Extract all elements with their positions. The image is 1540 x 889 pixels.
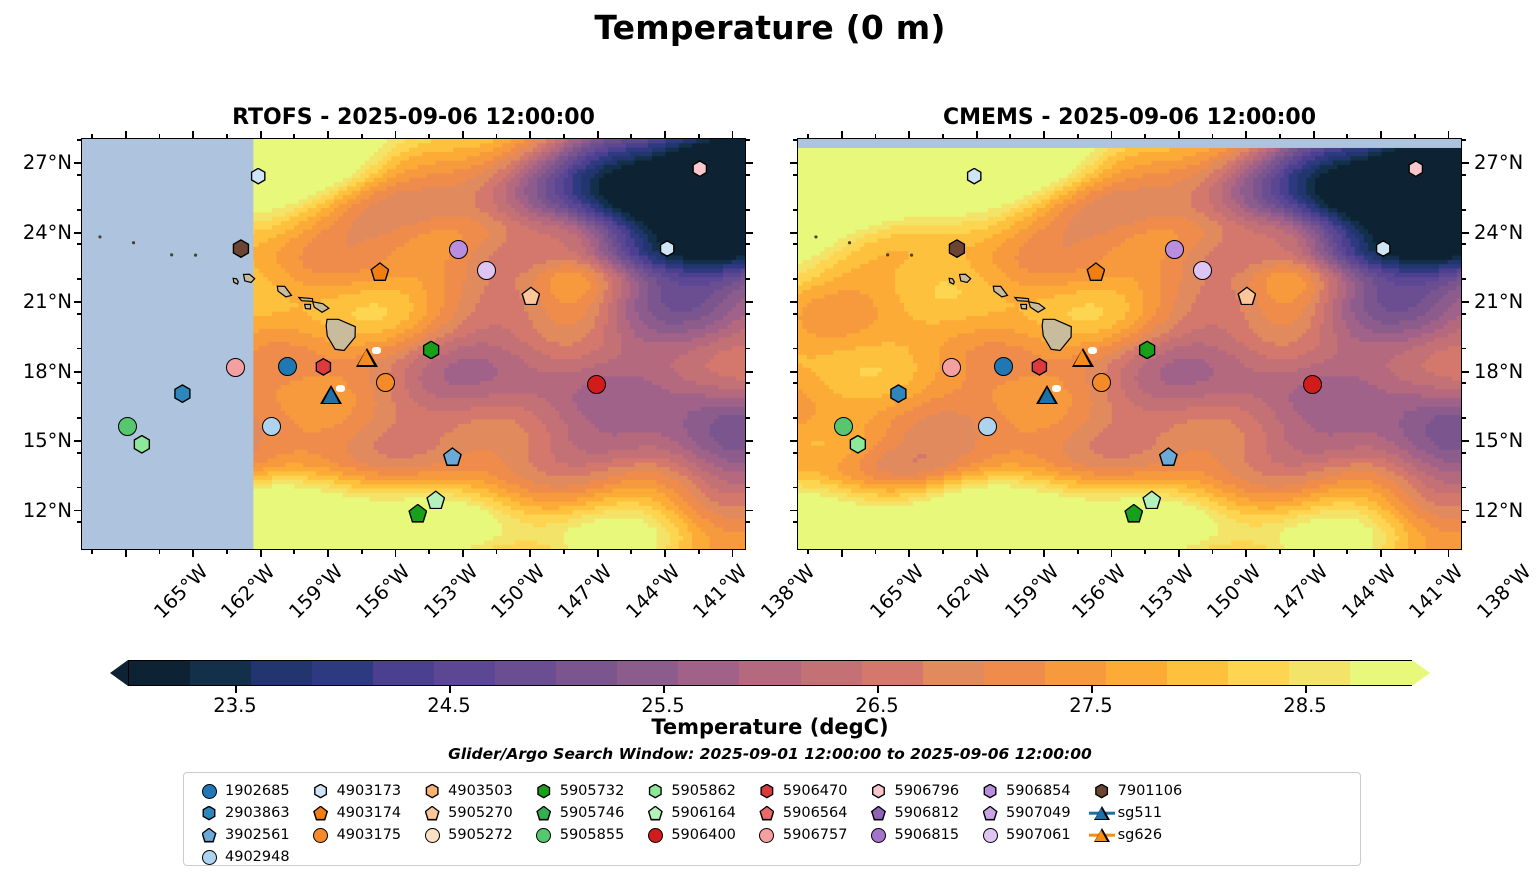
colorbar-segment: [1289, 661, 1352, 685]
y-tick-major: [746, 232, 753, 234]
marker-fill: [660, 242, 674, 256]
legend-entry-5907061[interactable]: 5907061: [977, 825, 1071, 845]
marker-outline: [659, 240, 676, 257]
x-axis-label: 156°W: [352, 560, 415, 623]
y-tick-minor: [77, 452, 81, 454]
marker-outline: [443, 447, 462, 466]
marker-fill: [1074, 350, 1090, 365]
legend-entry-4903173[interactable]: 4903173: [308, 781, 402, 801]
map-marker-5905746[interactable]: [1124, 504, 1143, 523]
legend-marker-5906812: [865, 803, 891, 823]
y-tick-minor: [1462, 209, 1466, 211]
panel-title-cmems: CMEMS - 2025-09-06 12:00:00: [797, 105, 1462, 130]
x-tick-major: [597, 131, 599, 138]
y-tick-minor: [1462, 521, 1466, 523]
y-tick-major: [790, 162, 797, 164]
marker-outline: [848, 435, 867, 454]
colorbar-tick: [663, 686, 665, 693]
marker-fill: [984, 807, 996, 819]
legend-label: 4903174: [337, 805, 402, 821]
x-tick-major: [125, 550, 127, 557]
marker-outline: [1138, 340, 1157, 359]
legend-entry-3902561[interactable]: 3902561: [196, 825, 290, 845]
map-marker-5906796[interactable]: [691, 160, 708, 177]
marker-fill: [967, 169, 981, 183]
marker-fill: [873, 807, 885, 819]
map-marker-5906854[interactable]: [449, 240, 468, 259]
legend-marker-4903174: [308, 803, 334, 823]
legend-entry-1902685[interactable]: 1902685: [196, 781, 290, 801]
x-axis-label: 165°W: [865, 560, 928, 623]
legend-label: 5906812: [894, 805, 959, 821]
x-tick-major: [1178, 131, 1180, 138]
panel-title-rtofs: RTOFS - 2025-09-06 12:00:00: [81, 105, 746, 130]
marker-fill: [523, 288, 539, 304]
marker-circle: [942, 358, 961, 377]
x-tick-minor: [496, 550, 498, 554]
marker-fill: [1039, 388, 1055, 403]
legend-entry-4903175[interactable]: 4903175: [308, 825, 402, 845]
legend-entry-5905746[interactable]: 5905746: [531, 803, 625, 823]
map-marker-5905862[interactable]: [132, 435, 151, 454]
marker-fill: [649, 785, 661, 797]
marker-outline: [408, 504, 427, 523]
map-marker-4903173b[interactable]: [659, 240, 676, 257]
map-marker-5905746[interactable]: [408, 504, 427, 523]
legend-entry-5905862[interactable]: 5905862: [642, 781, 736, 801]
y-tick-major: [1462, 232, 1469, 234]
colorbar-tick: [877, 686, 879, 693]
x-tick-major: [327, 131, 329, 138]
y-tick-major: [790, 301, 797, 303]
colorbar-segment: [129, 661, 192, 685]
map-marker-5905270[interactable]: [1237, 286, 1256, 305]
map-marker-1902685[interactable]: [994, 357, 1013, 376]
y-axis-label: 12°N: [1474, 499, 1523, 522]
map-marker-sg511[interactable]: [320, 383, 342, 405]
y-tick-minor: [793, 174, 797, 176]
x-tick-minor: [361, 134, 363, 138]
y-axis-label: 18°N: [0, 360, 72, 383]
marker-outline: [871, 784, 886, 799]
marker-circle: [278, 357, 297, 376]
x-tick-minor: [942, 550, 944, 554]
y-tick-minor: [77, 521, 81, 523]
map-marker-2903863[interactable]: [889, 384, 908, 403]
colorbar-segment: [617, 661, 680, 685]
x-tick-major: [1448, 550, 1450, 557]
legend-entry-5906815[interactable]: 5906815: [865, 825, 959, 845]
map-marker-sg626[interactable]: [1072, 346, 1094, 368]
colorbar-segment: [1350, 661, 1413, 685]
marker-outline: [1072, 348, 1094, 367]
marker-circle: [1092, 373, 1111, 392]
marker-fill: [538, 785, 550, 797]
x-tick-minor: [159, 134, 161, 138]
colorbar-segment: [251, 661, 314, 685]
map-marker-5906400[interactable]: [587, 375, 606, 394]
map-marker-3902561[interactable]: [1159, 447, 1178, 466]
map-marker-5906757[interactable]: [226, 358, 245, 377]
colorbar-segment: [556, 661, 619, 685]
map-marker-4903175[interactable]: [376, 373, 395, 392]
marker-fill: [315, 785, 327, 797]
colorbar-segment: [1228, 661, 1291, 685]
legend-label: 5906564: [783, 805, 848, 821]
legend-column: 590685459070495907061: [977, 781, 1071, 869]
marker-outline: [370, 262, 389, 281]
map-marker-5905732[interactable]: [1138, 340, 1157, 359]
x-tick-major: [1245, 131, 1247, 138]
y-axis-label: 15°N: [0, 429, 72, 452]
colorbar-segment: [1167, 661, 1230, 685]
map-panel-cmems: CMEMS - 2025-09-06 12:00:00: [797, 138, 1462, 550]
map-marker-3902561[interactable]: [443, 447, 462, 466]
map-marker-4902948[interactable]: [978, 417, 997, 436]
y-tick-minor: [793, 452, 797, 454]
legend-entry-5906796[interactable]: 5906796: [865, 781, 959, 801]
colorbar-segment: [862, 661, 925, 685]
marker-outline: [648, 784, 663, 799]
marker-outline: [536, 784, 551, 799]
legend-marker-5906757: [754, 825, 780, 845]
legend-label: 5905862: [671, 783, 736, 799]
legend-label: 4903173: [337, 783, 402, 799]
marker-outline: [356, 348, 378, 367]
legend-marker-sg511: [1089, 803, 1115, 823]
x-tick-minor: [91, 134, 93, 138]
x-tick-major: [395, 131, 397, 138]
marker-fill: [1409, 162, 1423, 176]
legend-entry-5905855[interactable]: 5905855: [531, 825, 625, 845]
colorbar-title: Temperature (degC): [0, 715, 1540, 739]
marker-circle: [202, 850, 217, 865]
map-marker-5905855[interactable]: [834, 417, 853, 436]
colorbar: 23.524.525.526.527.528.5: [110, 660, 1430, 686]
marker-outline: [1124, 504, 1143, 523]
colorbar-tick-label: 28.5: [1283, 694, 1326, 717]
legend-label: 5907049: [1006, 805, 1071, 821]
y-tick-minor: [793, 382, 797, 384]
search-window-caption: Glider/Argo Search Window: 2025-09-01 12…: [0, 745, 1540, 763]
x-tick-minor: [563, 134, 565, 138]
x-tick-minor: [1279, 550, 1281, 554]
y-tick-minor: [746, 348, 750, 350]
y-tick-major: [746, 510, 753, 512]
colorbar-segment: [923, 661, 986, 685]
map-marker-5905862[interactable]: [848, 435, 867, 454]
legend-entry-5906812[interactable]: 5906812: [865, 803, 959, 823]
marker-outline: [871, 806, 886, 821]
y-tick-minor: [77, 348, 81, 350]
map-marker-7901106[interactable]: [231, 239, 250, 258]
marker-circle: [1165, 240, 1184, 259]
legend-column-gap: [847, 781, 865, 869]
legend-label: sg626: [1118, 827, 1162, 843]
map-marker-5906164[interactable]: [426, 490, 445, 509]
y-tick-major: [746, 301, 753, 303]
legend-marker-7901106: [1089, 781, 1115, 801]
map-marker-5906470[interactable]: [1030, 358, 1048, 376]
map-marker-5905732[interactable]: [422, 340, 441, 359]
y-tick-major: [74, 162, 81, 164]
legend-column: 590679659068125906815: [865, 781, 959, 869]
legend-label: sg511: [1118, 805, 1162, 821]
x-tick-major: [732, 550, 734, 557]
colorbar-tick: [235, 686, 237, 693]
map-marker-5905855[interactable]: [118, 417, 137, 436]
legend-entry-5905270[interactable]: 5905270: [419, 803, 513, 823]
legend-marker-2903863: [196, 803, 222, 823]
map-marker-7901106[interactable]: [947, 239, 966, 258]
y-tick-major: [1462, 371, 1469, 373]
colorbar-segment: [739, 661, 802, 685]
x-axis-label: 147°W: [554, 560, 617, 623]
x-tick-major: [260, 131, 262, 138]
map-marker-5906164[interactable]: [1142, 490, 1161, 509]
x-tick-minor: [630, 550, 632, 554]
legend-marker-5906815: [865, 825, 891, 845]
temperature-field-rtofs: [82, 139, 745, 549]
legend-marker-5905746: [531, 803, 557, 823]
y-tick-minor: [746, 209, 750, 211]
legend-marker-5905272: [419, 825, 445, 845]
marker-fill: [761, 785, 773, 797]
map-marker-5906757[interactable]: [942, 358, 961, 377]
x-tick-major: [908, 131, 910, 138]
x-tick-major: [1380, 550, 1382, 557]
x-tick-major: [1111, 131, 1113, 138]
legend-marker-5906400: [642, 825, 668, 845]
y-tick-major: [746, 162, 753, 164]
marker-fill: [426, 785, 438, 797]
y-tick-major: [790, 232, 797, 234]
legend-entry-5905272[interactable]: 5905272: [419, 825, 513, 845]
marker-circle: [226, 358, 245, 377]
colorbar-tick-label: 26.5: [855, 694, 898, 717]
x-tick-major: [976, 550, 978, 557]
x-axis-label: 162°W: [933, 560, 996, 623]
legend-marker-5905270: [419, 803, 445, 823]
legend-entry-5906400[interactable]: 5906400: [642, 825, 736, 845]
legend-entry-5907049[interactable]: 5907049: [977, 803, 1071, 823]
marker-circle: [449, 240, 468, 259]
map-marker-4903173[interactable]: [966, 168, 983, 185]
marker-fill: [444, 449, 460, 465]
y-tick-minor: [746, 139, 750, 141]
legend-marker-5905855: [531, 825, 557, 845]
marker-circle: [262, 417, 281, 436]
legend-marker-5906854: [977, 781, 1003, 801]
y-tick-minor: [1462, 278, 1466, 280]
map-canvas-cmems[interactable]: [797, 138, 1462, 550]
legend-entry-2903863[interactable]: 2903863: [196, 803, 290, 823]
y-tick-major: [1462, 510, 1469, 512]
map-marker-4902948[interactable]: [262, 417, 281, 436]
x-axis-label: 144°W: [1337, 560, 1400, 623]
legend-marker-5906796: [865, 781, 891, 801]
map-marker-5906470[interactable]: [314, 358, 332, 376]
map-marker-1902685[interactable]: [278, 357, 297, 376]
legend-column-gap: [513, 781, 531, 869]
legend-entry-4903503[interactable]: 4903503: [419, 781, 513, 801]
marker-fill: [873, 785, 885, 797]
legend-entry-4902948[interactable]: 4902948: [196, 847, 290, 867]
x-tick-minor: [226, 134, 228, 138]
x-tick-minor: [1346, 134, 1348, 138]
marker-circle: [978, 417, 997, 436]
x-tick-major: [462, 550, 464, 557]
legend-column-gap: [1071, 781, 1089, 869]
y-axis-label: 15°N: [1474, 429, 1523, 452]
x-axis-label: 138°W: [1472, 560, 1535, 623]
x-axis-label: 150°W: [486, 560, 549, 623]
y-tick-major: [74, 440, 81, 442]
legend-entry-sg511[interactable]: sg511: [1089, 803, 1183, 823]
colorbar-segment: [678, 661, 741, 685]
y-tick-minor: [1462, 382, 1466, 384]
map-marker-4903174[interactable]: [1086, 262, 1105, 281]
marker-outline: [425, 784, 440, 799]
x-tick-minor: [91, 550, 93, 554]
map-marker-sg511[interactable]: [1036, 383, 1058, 405]
map-marker-4903173b[interactable]: [1375, 240, 1392, 257]
y-tick-minor: [1462, 417, 1466, 419]
marker-circle: [313, 828, 328, 843]
legend-column-gap: [736, 781, 754, 869]
legend-entry-5906757[interactable]: 5906757: [754, 825, 848, 845]
x-tick-major: [1111, 550, 1113, 557]
legend-entry-5906164[interactable]: 5906164: [642, 803, 736, 823]
marker-fill: [323, 388, 339, 403]
marker-outline: [422, 340, 441, 359]
legend-label: 5906854: [1006, 783, 1071, 799]
y-tick-minor: [746, 243, 750, 245]
x-tick-minor: [1212, 134, 1214, 138]
legend-marker-sg626: [1089, 825, 1115, 845]
legend-track-line: [1089, 834, 1115, 837]
legend-entry-5906854[interactable]: 5906854: [977, 781, 1071, 801]
map-marker-4903174[interactable]: [370, 262, 389, 281]
legend-column-gap: [401, 781, 419, 869]
legend-label: 5906164: [671, 805, 736, 821]
marker-circle: [983, 828, 998, 843]
marker-fill: [850, 436, 866, 452]
marker-circle: [871, 828, 886, 843]
y-tick-minor: [77, 174, 81, 176]
y-axis-label: 24°N: [0, 221, 72, 244]
y-tick-minor: [77, 487, 81, 489]
x-tick-minor: [875, 134, 877, 138]
colorbar-extend-high-arrow: [1412, 660, 1430, 686]
y-tick-minor: [1462, 313, 1466, 315]
marker-outline: [250, 168, 267, 185]
y-tick-minor: [793, 313, 797, 315]
map-marker-4903173[interactable]: [250, 168, 267, 185]
y-tick-major: [1462, 162, 1469, 164]
x-tick-major: [327, 550, 329, 557]
y-tick-major: [746, 371, 753, 373]
legend-column: 7901106sg511sg626: [1089, 781, 1183, 869]
x-tick-minor: [496, 134, 498, 138]
y-tick-minor: [1462, 487, 1466, 489]
marker-fill: [251, 169, 265, 183]
y-tick-major: [746, 440, 753, 442]
x-tick-major: [1043, 131, 1045, 138]
marker-circle: [648, 828, 663, 843]
legend-entry-7901106[interactable]: 7901106: [1089, 781, 1183, 801]
x-tick-major: [260, 550, 262, 557]
x-tick-major: [664, 131, 666, 138]
legend-label: 5905270: [448, 805, 513, 821]
y-tick-minor: [746, 452, 750, 454]
marker-circle: [376, 373, 395, 392]
marker-outline: [983, 784, 998, 799]
map-marker-5906400[interactable]: [1303, 375, 1322, 394]
map-marker-5906796[interactable]: [1407, 160, 1424, 177]
colorbar-tick: [1091, 686, 1093, 693]
x-tick-minor: [1212, 550, 1214, 554]
x-axis-label: 141°W: [689, 560, 752, 623]
y-axis-label: 24°N: [1474, 221, 1523, 244]
colorbar-segment: [434, 661, 497, 685]
legend-marker-5907049: [977, 803, 1003, 823]
legend-marker-4903173: [308, 781, 334, 801]
x-tick-major: [192, 131, 194, 138]
legend-entry-4903174[interactable]: 4903174: [308, 803, 402, 823]
map-marker-5906854[interactable]: [1165, 240, 1184, 259]
map-marker-2903863[interactable]: [173, 384, 192, 403]
colorbar-segment: [190, 661, 253, 685]
y-tick-major: [790, 440, 797, 442]
marker-outline: [1407, 160, 1424, 177]
legend-marker-5905862: [642, 781, 668, 801]
y-tick-minor: [746, 278, 750, 280]
y-tick-major: [790, 371, 797, 373]
legend-entry-5906470[interactable]: 5906470: [754, 781, 848, 801]
legend-column-gap: [959, 781, 977, 869]
marker-outline: [648, 806, 663, 821]
y-tick-major: [74, 232, 81, 234]
marker-fill: [761, 807, 773, 819]
marker-fill: [315, 807, 327, 819]
colorbar-tick-label: 27.5: [1069, 694, 1112, 717]
marker-fill: [358, 350, 374, 365]
marker-outline: [691, 160, 708, 177]
map-marker-5907061[interactable]: [1193, 261, 1212, 280]
y-tick-minor: [793, 278, 797, 280]
legend-entry-sg626[interactable]: sg626: [1089, 825, 1183, 845]
map-marker-5907061[interactable]: [477, 261, 496, 280]
colorbar-tick: [449, 686, 451, 693]
map-marker-5905270[interactable]: [521, 286, 540, 305]
map-marker-4903175[interactable]: [1092, 373, 1111, 392]
colorbar-tick-label: 23.5: [213, 694, 256, 717]
marker-outline: [1237, 286, 1256, 305]
map-marker-sg626[interactable]: [356, 346, 378, 368]
x-tick-minor: [159, 550, 161, 554]
map-canvas-rtofs[interactable]: [81, 138, 746, 550]
x-tick-major: [732, 131, 734, 138]
legend-label: 5905746: [560, 805, 625, 821]
marker-circle: [536, 828, 551, 843]
legend-entry-5905732[interactable]: 5905732: [531, 781, 625, 801]
x-tick-major: [1043, 550, 1045, 557]
colorbar-tick-label: 25.5: [641, 694, 684, 717]
legend-entry-5906564[interactable]: 5906564: [754, 803, 848, 823]
legend-marker-5907061: [977, 825, 1003, 845]
marker-fill: [410, 505, 426, 521]
